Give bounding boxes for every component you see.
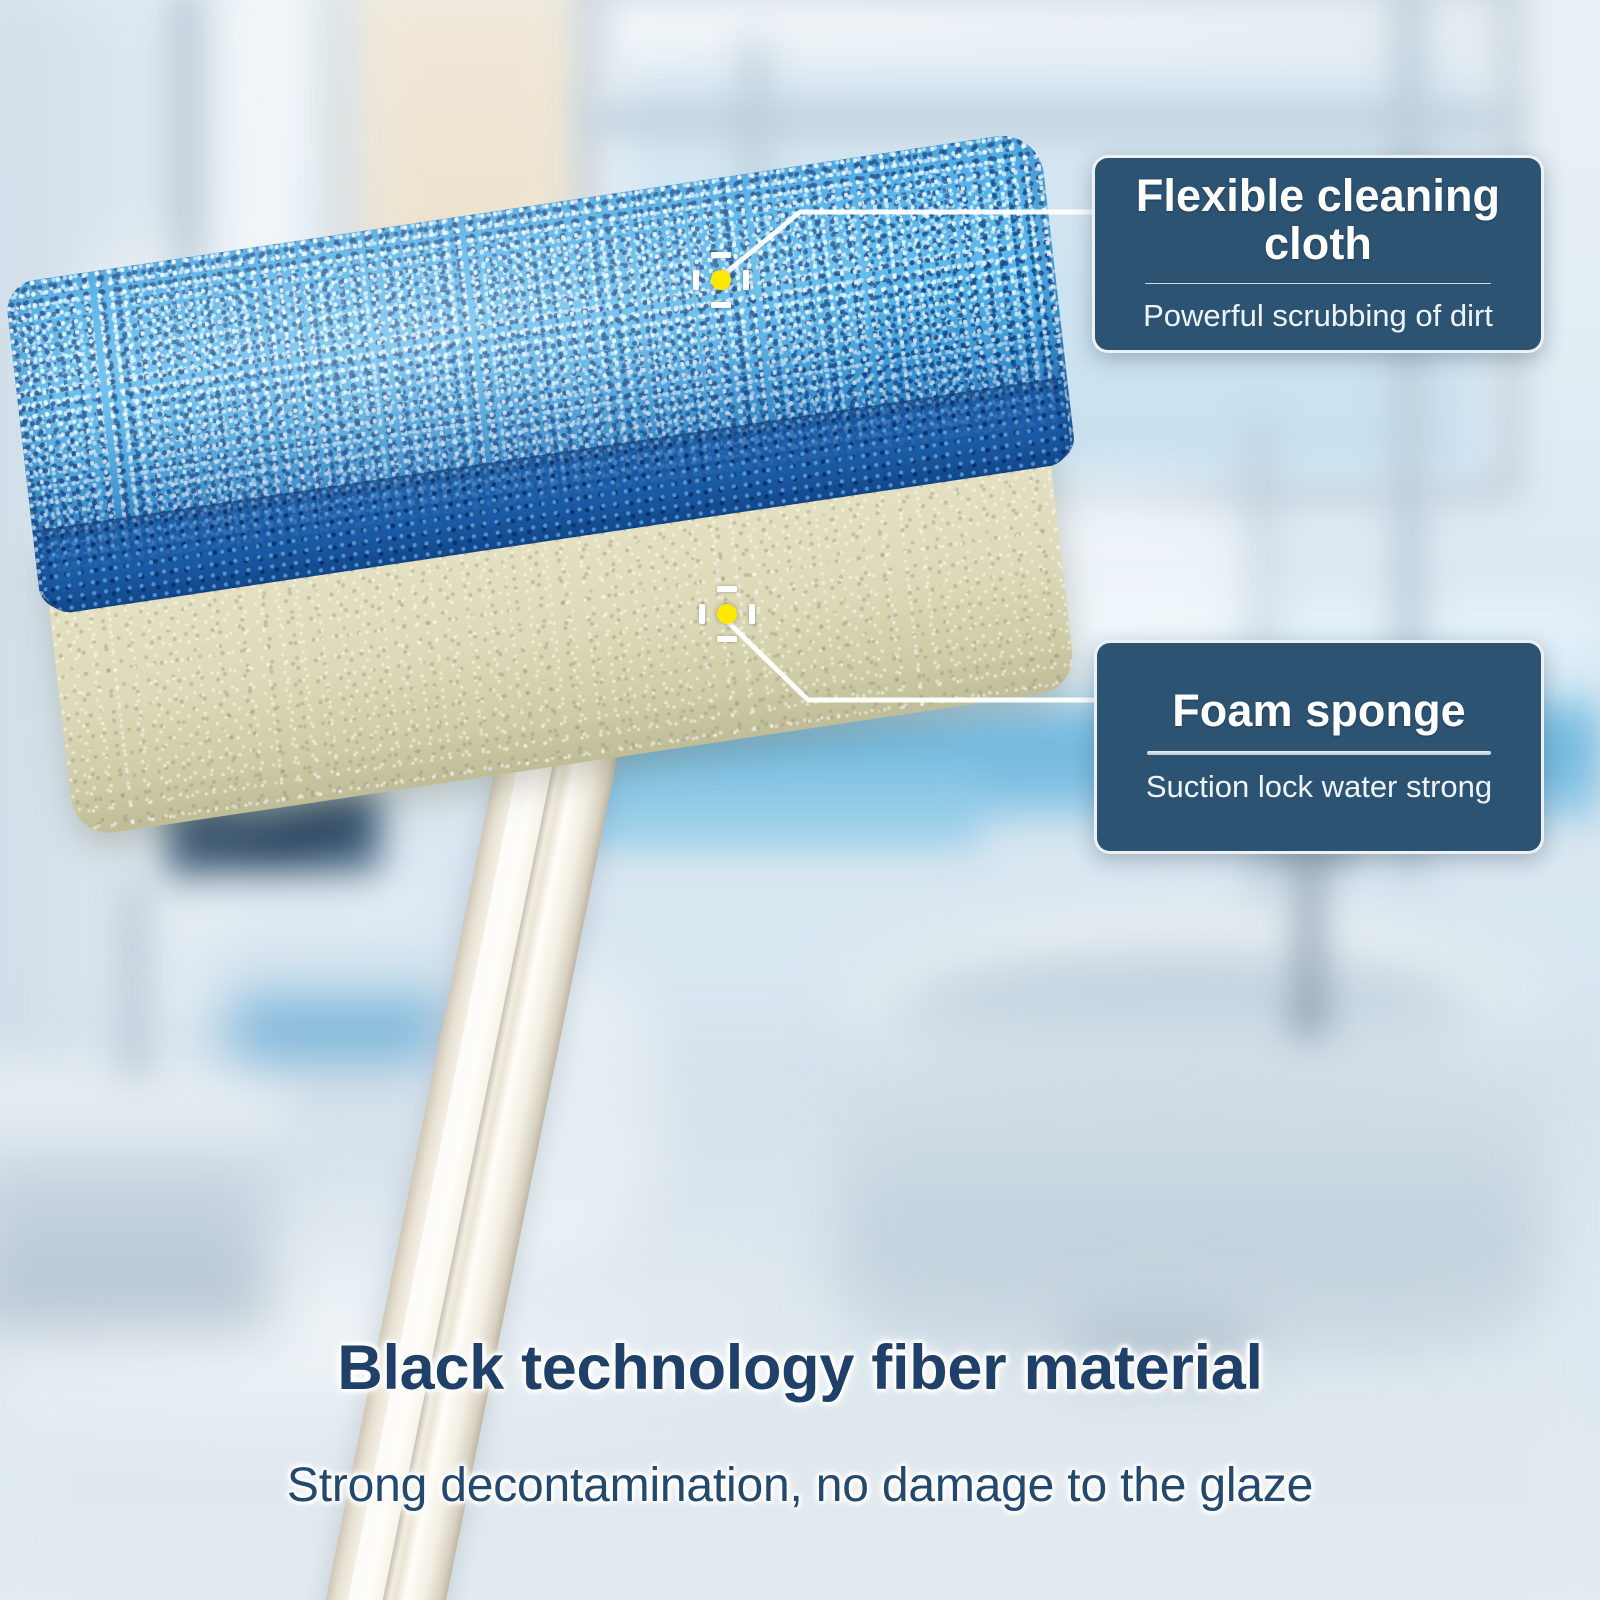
callout-title: Foam sponge: [1172, 687, 1466, 735]
marker-tick-right-icon: [749, 604, 755, 624]
marker-tick-bottom-icon: [717, 636, 737, 642]
marker-tick-top-icon: [711, 252, 731, 258]
callout-subtitle: Powerful scrubbing of dirt: [1143, 298, 1493, 334]
callout-title: Flexible cleaning cloth: [1117, 172, 1519, 267]
callout-card-foam-sponge[interactable]: Foam sponge Suction lock water strong: [1094, 640, 1544, 854]
callout-divider: [1147, 751, 1491, 755]
marker-tick-left-icon: [693, 270, 699, 290]
connector-line-cloth: [722, 212, 1094, 276]
cloth-target-marker[interactable]: [693, 252, 749, 308]
headline-text: Black technology fiber material: [0, 1332, 1600, 1404]
marker-dot-icon: [717, 604, 737, 624]
marker-tick-bottom-icon: [711, 302, 731, 308]
product-infographic-canvas: Flexible cleaning cloth Powerful scrubbi…: [0, 0, 1600, 1600]
connector-line-foam: [726, 620, 1096, 700]
subheadline-text: Strong decontamination, no damage to the…: [0, 1458, 1600, 1513]
marker-tick-left-icon: [699, 604, 705, 624]
marker-tick-right-icon: [743, 270, 749, 290]
callout-divider: [1145, 283, 1491, 284]
foam-target-marker[interactable]: [699, 586, 755, 642]
marker-dot-icon: [711, 270, 731, 290]
callout-card-flexible-cleaning-cloth[interactable]: Flexible cleaning cloth Powerful scrubbi…: [1092, 155, 1544, 353]
marker-tick-top-icon: [717, 586, 737, 592]
callout-subtitle: Suction lock water strong: [1146, 769, 1492, 805]
